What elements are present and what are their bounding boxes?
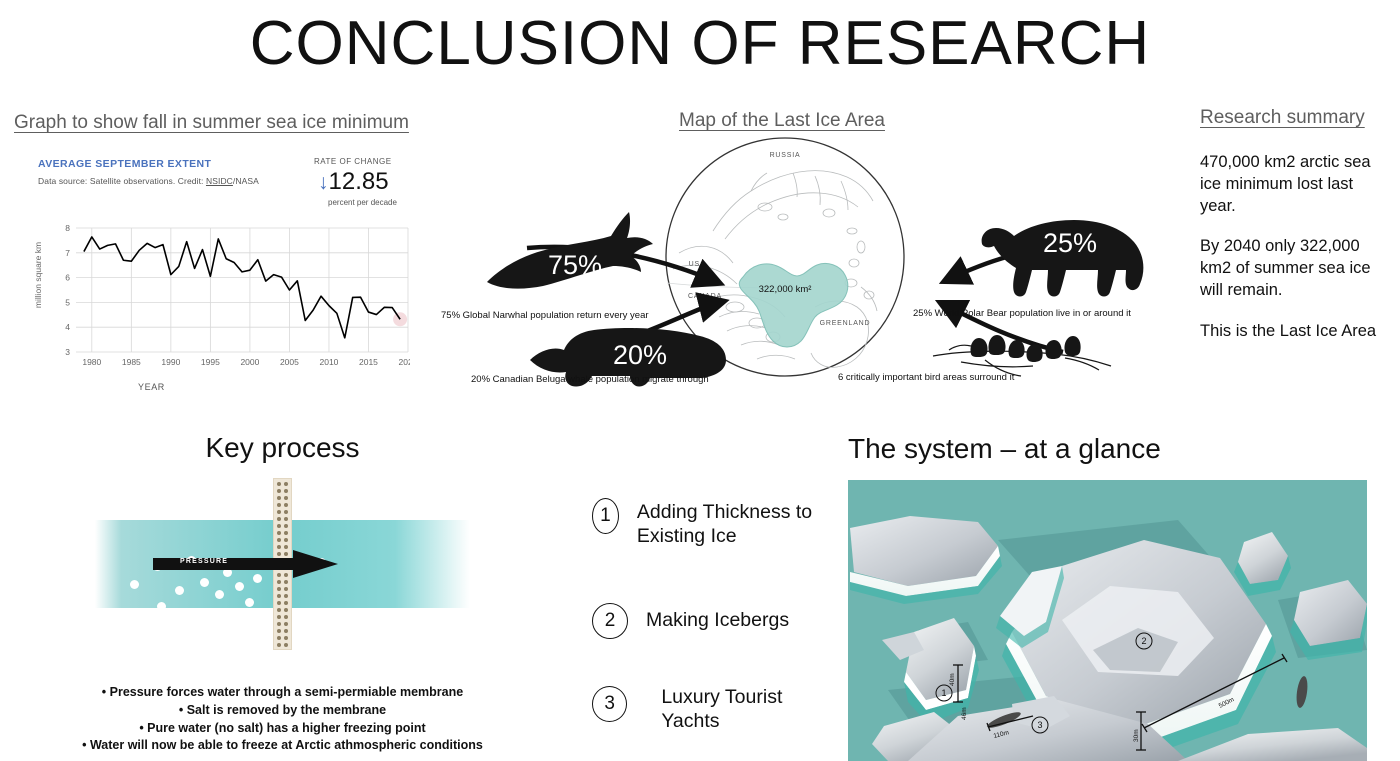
chart-title: AVERAGE SEPTEMBER EXTENT [38, 158, 211, 170]
svg-text:1990: 1990 [161, 357, 180, 367]
salt-molecule [131, 628, 140, 637]
membrane-pore [284, 510, 288, 514]
render-marker-2: 2 [1141, 636, 1146, 646]
salt-molecule [235, 582, 244, 591]
summary-paragraph: This is the Last Ice Area [1200, 321, 1390, 343]
bullet-item: • Pure water (no salt) has a higher free… [0, 720, 565, 738]
dimension-46m: 46m [961, 707, 968, 720]
membrane-pore [284, 608, 288, 612]
svg-text:3: 3 [65, 347, 70, 357]
summary-paragraph: By 2040 only 322,000 km2 of summer sea i… [1200, 236, 1390, 301]
membrane-pore [284, 545, 288, 549]
bullet-item: • Salt is removed by the membrane [0, 702, 565, 720]
svg-text:1985: 1985 [122, 357, 141, 367]
membrane-pore [277, 524, 281, 528]
membrane-pore [277, 496, 281, 500]
step-label: Making Icebergs [646, 603, 789, 633]
membrane-pore [277, 643, 281, 647]
globe-label-russia: RUSSIA [770, 152, 801, 159]
membrane-pore [277, 503, 281, 507]
chart-x-axis-label: YEAR [138, 382, 165, 392]
svg-text:2010: 2010 [319, 357, 338, 367]
step-number-circle: 3 [592, 686, 627, 722]
iceberg-render-image: 40m 46m 110m 500m 30m 1 2 3 [848, 480, 1367, 761]
rate-of-change-value: ↓12.85 [318, 168, 389, 196]
membrane-pore [284, 517, 288, 521]
membrane-pore [277, 580, 281, 584]
membrane-pore [277, 510, 281, 514]
membrane-pore [277, 538, 281, 542]
slide-canvas: CONCLUSION OF RESEARCH Graph to show fal… [0, 0, 1400, 761]
step-label: Adding Thickness to Existing Ice [637, 498, 842, 549]
polar-bear-caption: 25% World Polar Bear population live in … [913, 308, 1131, 319]
system-title: The system – at a glance [848, 433, 1161, 465]
membrane-pore [284, 587, 288, 591]
svg-text:1995: 1995 [201, 357, 220, 367]
membrane-pore [284, 496, 288, 500]
step-label: Luxury Tourist Yachts [645, 686, 842, 734]
polar-bear-percent: 25% [1043, 228, 1097, 258]
membrane-pore [284, 636, 288, 640]
chart-y-axis-label: million square km [33, 225, 43, 325]
salt-molecule [205, 612, 214, 621]
membrane-pore [284, 643, 288, 647]
rate-of-change-label: RATE OF CHANGE [314, 157, 392, 166]
membrane-pore [284, 622, 288, 626]
iceberg-scene: 40m 46m 110m 500m 30m 1 2 3 [848, 480, 1367, 761]
chart-source: Data source: Satellite observations. Cre… [38, 176, 259, 186]
sea-ice-chart: AVERAGE SEPTEMBER EXTENT Data source: Sa… [18, 152, 418, 400]
salt-molecule [179, 612, 188, 621]
pressure-label: PRESSURE [180, 558, 228, 565]
polar-bear-icon: 25% [970, 200, 1160, 305]
section-heading-map: Map of the Last Ice Area [679, 110, 885, 132]
step-item-3: 3 Luxury Tourist Yachts [592, 686, 842, 734]
membrane-pore [284, 594, 288, 598]
render-marker-3: 3 [1037, 720, 1042, 730]
step-item-1: 1 Adding Thickness to Existing Ice [592, 498, 842, 549]
membrane-pore [277, 482, 281, 486]
svg-text:5: 5 [65, 297, 70, 307]
svg-text:7: 7 [65, 248, 70, 258]
membrane-pore [277, 622, 281, 626]
membrane-pore [277, 531, 281, 535]
page-title: CONCLUSION OF RESEARCH [0, 8, 1400, 79]
step-number-circle: 2 [592, 603, 628, 639]
last-ice-area-map: 322,000 km² RUSSIA USA CANADA GREENLAND … [435, 130, 1185, 395]
salt-molecule [165, 630, 174, 639]
membrane-pore [277, 636, 281, 640]
narwhal-percent: 75% [548, 250, 602, 280]
salt-molecule [200, 578, 209, 587]
salt-molecule [245, 598, 254, 607]
step-item-2: 2 Making Icebergs [592, 603, 789, 639]
globe-label-canada: CANADA [688, 293, 722, 300]
membrane-pore [284, 538, 288, 542]
salt-molecule [157, 602, 166, 611]
birds-icon [925, 320, 1125, 380]
membrane-pore [277, 545, 281, 549]
membrane-pore [277, 601, 281, 605]
narwhal-icon: 75% [487, 208, 677, 300]
salt-molecule [195, 626, 204, 635]
svg-text:6: 6 [65, 273, 70, 283]
membrane-pore [284, 482, 288, 486]
key-process-bullets: • Pressure forces water through a semi-p… [0, 684, 565, 755]
svg-text:8: 8 [65, 224, 70, 233]
salt-molecule [175, 586, 184, 595]
svg-text:2000: 2000 [240, 357, 259, 367]
rate-of-change-unit: percent per decade [328, 198, 397, 207]
dimension-30m: 30m [1133, 729, 1140, 742]
down-arrow-icon: ↓ [318, 171, 329, 194]
membrane-pore [284, 531, 288, 535]
globe-label-usa: USA [689, 261, 706, 268]
membrane-pore [277, 587, 281, 591]
salt-molecule [130, 580, 139, 589]
birds-caption: 6 critically important bird areas surrou… [838, 372, 1014, 383]
narwhal-caption: 75% Global Narwhal population return eve… [441, 310, 649, 321]
svg-text:2005: 2005 [280, 357, 299, 367]
membrane-pore [277, 615, 281, 619]
chart-plot-area: 345678 198019851990199520002005201020152… [58, 224, 410, 376]
membrane-pore [277, 489, 281, 493]
beluga-percent: 20% [613, 340, 667, 370]
membrane-pore [284, 629, 288, 633]
salt-molecule [215, 590, 224, 599]
summary-paragraph: 470,000 km2 arctic sea ice minimum lost … [1200, 152, 1390, 217]
membrane-pore [284, 580, 288, 584]
step-number-circle: 1 [592, 498, 619, 534]
membrane-pore [284, 615, 288, 619]
section-heading-graph: Graph to show fall in summer sea ice min… [14, 112, 409, 134]
key-process-title: Key process [0, 432, 565, 464]
beluga-caption: 20% Canadian Beluga whale population mig… [471, 374, 709, 385]
research-summary-text: 470,000 km2 arctic sea ice minimum lost … [1200, 152, 1390, 361]
svg-text:2015: 2015 [359, 357, 378, 367]
globe-label-greenland: GREENLAND [820, 320, 871, 327]
osmosis-diagram: PRESSURE [95, 478, 470, 650]
membrane-pore [277, 629, 281, 633]
membrane-pore [277, 594, 281, 598]
membrane-pore [284, 524, 288, 528]
membrane-pore [277, 517, 281, 521]
bullet-item: • Pressure forces water through a semi-p… [0, 684, 565, 702]
svg-text:4: 4 [65, 322, 70, 332]
svg-text:1980: 1980 [82, 357, 101, 367]
svg-text:2020: 2020 [399, 357, 410, 367]
bullet-item: • Water will now be able to freeze at Ar… [0, 737, 565, 755]
salt-molecule [385, 624, 394, 633]
membrane-pore [284, 601, 288, 605]
membrane-pore [277, 608, 281, 612]
dimension-40m: 40m [949, 673, 956, 686]
section-heading-research-summary: Research summary [1200, 107, 1365, 129]
membrane-pore [284, 489, 288, 493]
salt-molecule [141, 616, 150, 625]
membrane-pore [284, 503, 288, 507]
salt-molecule [227, 608, 236, 617]
region-area-label: 322,000 km² [759, 284, 812, 295]
render-marker-1: 1 [941, 688, 946, 698]
